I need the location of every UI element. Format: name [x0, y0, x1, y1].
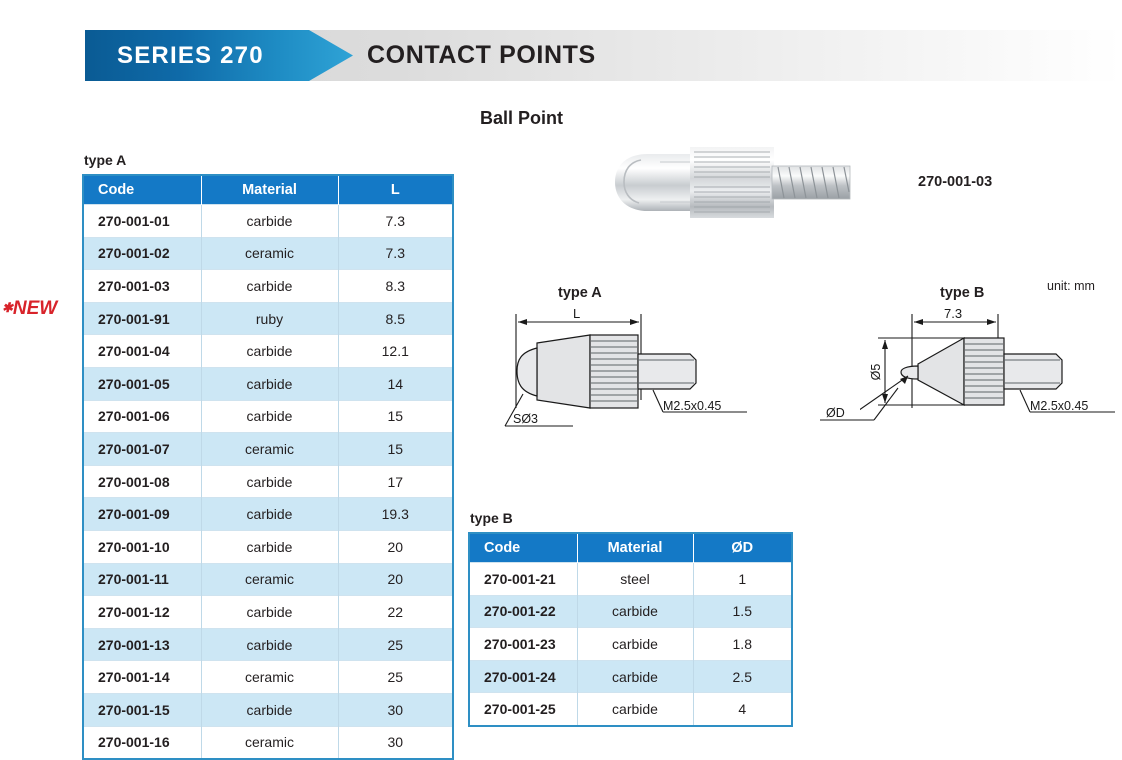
series-label: SERIES 270	[117, 42, 264, 70]
table-row: 270-001-91ruby8.5	[83, 302, 453, 335]
column-header-code: Code	[83, 175, 201, 205]
new-badge-label: NEW	[13, 298, 57, 319]
cell-material: steel	[577, 563, 693, 596]
cell-material: carbide	[577, 660, 693, 693]
callout-ball-diameter: SØ3	[513, 412, 538, 426]
type-a-table-body: 270-001-01carbide7.3270-001-02ceramic7.3…	[83, 205, 453, 760]
cell-diameter: 1.8	[693, 628, 792, 661]
type-b-table-body: 270-001-21steel1270-001-22carbide1.5270-…	[469, 563, 792, 726]
cell-code: 270-001-21	[469, 563, 577, 596]
page-header-banner: SERIES 270 CONTACT POINTS	[85, 30, 1122, 81]
cell-length: 15	[338, 433, 453, 466]
cell-length: 30	[338, 693, 453, 726]
unit-note: unit: mm	[1047, 279, 1095, 293]
dimension-label-length: 7.3	[944, 306, 962, 321]
table-row: 270-001-06carbide15	[83, 400, 453, 433]
column-header-material: Material	[577, 533, 693, 563]
cell-code: 270-001-25	[469, 693, 577, 726]
section-title: Ball Point	[480, 108, 563, 129]
table-row: 270-001-24carbide2.5	[469, 660, 792, 693]
cell-material: carbide	[201, 367, 338, 400]
table-row: 270-001-25carbide4	[469, 693, 792, 726]
cell-material: carbide	[577, 595, 693, 628]
table-row: 270-001-16ceramic30	[83, 726, 453, 759]
table-row: 270-001-14ceramic25	[83, 661, 453, 694]
table-row: 270-001-07ceramic15	[83, 433, 453, 466]
type-b-tip-callout-group: ØD	[812, 380, 932, 428]
star-icon: ✱	[2, 300, 13, 315]
cell-length: 14	[338, 367, 453, 400]
cell-diameter: 1	[693, 563, 792, 596]
table-row: 270-001-11ceramic20	[83, 563, 453, 596]
cell-material: carbide	[201, 465, 338, 498]
column-header-code: Code	[469, 533, 577, 563]
cell-material: carbide	[201, 205, 338, 238]
table-row: 270-001-22carbide1.5	[469, 595, 792, 628]
cell-code: 270-001-14	[83, 661, 201, 694]
cell-code: 270-001-24	[469, 660, 577, 693]
column-header-length: L	[338, 175, 453, 205]
table-row: 270-001-04carbide12.1	[83, 335, 453, 368]
column-header-material: Material	[201, 175, 338, 205]
drawing-b-title: type B	[940, 285, 984, 301]
cell-code: 270-001-04	[83, 335, 201, 368]
cell-code: 270-001-13	[83, 628, 201, 661]
cell-length: 7.3	[338, 237, 453, 270]
drawing-a-title: type A	[558, 285, 602, 301]
dimension-label-diameter: Ø5	[869, 364, 883, 381]
cell-code: 270-001-08	[83, 465, 201, 498]
table-row: 270-001-09carbide19.3	[83, 498, 453, 531]
column-header-diameter: ØD	[693, 533, 792, 563]
cell-diameter: 4	[693, 693, 792, 726]
cell-material: carbide	[201, 693, 338, 726]
cell-code: 270-001-03	[83, 270, 201, 303]
type-a-specification-table: Code Material L 270-001-01carbide7.3270-…	[82, 174, 454, 760]
cell-length: 17	[338, 465, 453, 498]
table-row: 270-001-12carbide22	[83, 596, 453, 629]
type-a-technical-drawing: L SØ3 M2.5x0.45	[495, 300, 775, 440]
table-header-row: Code Material L	[83, 175, 453, 205]
cell-code: 270-001-07	[83, 433, 201, 466]
cell-length: 15	[338, 400, 453, 433]
table-row: 270-001-03carbide8.3	[83, 270, 453, 303]
cell-length: 30	[338, 726, 453, 759]
cell-material: carbide	[201, 270, 338, 303]
cell-code: 270-001-10	[83, 530, 201, 563]
type-b-specification-table: Code Material ØD 270-001-21steel1270-001…	[468, 532, 793, 727]
cell-length: 25	[338, 661, 453, 694]
cell-code: 270-001-16	[83, 726, 201, 759]
cell-code: 270-001-11	[83, 563, 201, 596]
cell-material: carbide	[201, 335, 338, 368]
table-row: 270-001-15carbide30	[83, 693, 453, 726]
callout-thread-spec: M2.5x0.45	[1030, 399, 1088, 413]
page-title: CONTACT POINTS	[367, 41, 596, 70]
cell-length: 20	[338, 530, 453, 563]
cell-material: ceramic	[201, 433, 338, 466]
cell-length: 7.3	[338, 205, 453, 238]
cell-material: carbide	[201, 498, 338, 531]
cell-code: 270-001-91	[83, 302, 201, 335]
callout-thread-spec: M2.5x0.45	[663, 399, 721, 413]
callout-tip-diameter: ØD	[826, 406, 845, 420]
cell-material: ruby	[201, 302, 338, 335]
cell-code: 270-001-09	[83, 498, 201, 531]
table-row: 270-001-02ceramic7.3	[83, 237, 453, 270]
cell-material: ceramic	[201, 563, 338, 596]
cell-material: ceramic	[201, 661, 338, 694]
table-a-label: type A	[84, 152, 126, 168]
table-row: 270-001-08carbide17	[83, 465, 453, 498]
cell-length: 22	[338, 596, 453, 629]
cell-material: ceramic	[201, 726, 338, 759]
cell-material: carbide	[577, 693, 693, 726]
cell-length: 8.3	[338, 270, 453, 303]
cell-code: 270-001-12	[83, 596, 201, 629]
table-row: 270-001-05carbide14	[83, 367, 453, 400]
cell-code: 270-001-22	[469, 595, 577, 628]
cell-length: 12.1	[338, 335, 453, 368]
photo-caption: 270-001-03	[918, 174, 992, 190]
table-row: 270-001-13carbide25	[83, 628, 453, 661]
cell-code: 270-001-06	[83, 400, 201, 433]
cell-material: carbide	[201, 596, 338, 629]
cell-length: 8.5	[338, 302, 453, 335]
table-row: 270-001-21steel1	[469, 563, 792, 596]
ball-point-contact-photo	[608, 140, 856, 225]
cell-code: 270-001-01	[83, 205, 201, 238]
table-header-row: Code Material ØD	[469, 533, 792, 563]
cell-material: carbide	[201, 628, 338, 661]
new-badge: ✱NEW	[2, 298, 57, 320]
cell-material: carbide	[201, 400, 338, 433]
cell-material: ceramic	[201, 237, 338, 270]
cell-material: carbide	[201, 530, 338, 563]
cell-material: carbide	[577, 628, 693, 661]
cell-code: 270-001-05	[83, 367, 201, 400]
cell-length: 25	[338, 628, 453, 661]
cell-code: 270-001-02	[83, 237, 201, 270]
cell-length: 20	[338, 563, 453, 596]
dimension-label-L: L	[573, 306, 580, 321]
table-row: 270-001-23carbide1.8	[469, 628, 792, 661]
table-row: 270-001-01carbide7.3	[83, 205, 453, 238]
table-b-label: type B	[470, 510, 513, 526]
cell-code: 270-001-23	[469, 628, 577, 661]
cell-diameter: 2.5	[693, 660, 792, 693]
table-row: 270-001-10carbide20	[83, 530, 453, 563]
cell-code: 270-001-15	[83, 693, 201, 726]
cell-length: 19.3	[338, 498, 453, 531]
cell-diameter: 1.5	[693, 595, 792, 628]
